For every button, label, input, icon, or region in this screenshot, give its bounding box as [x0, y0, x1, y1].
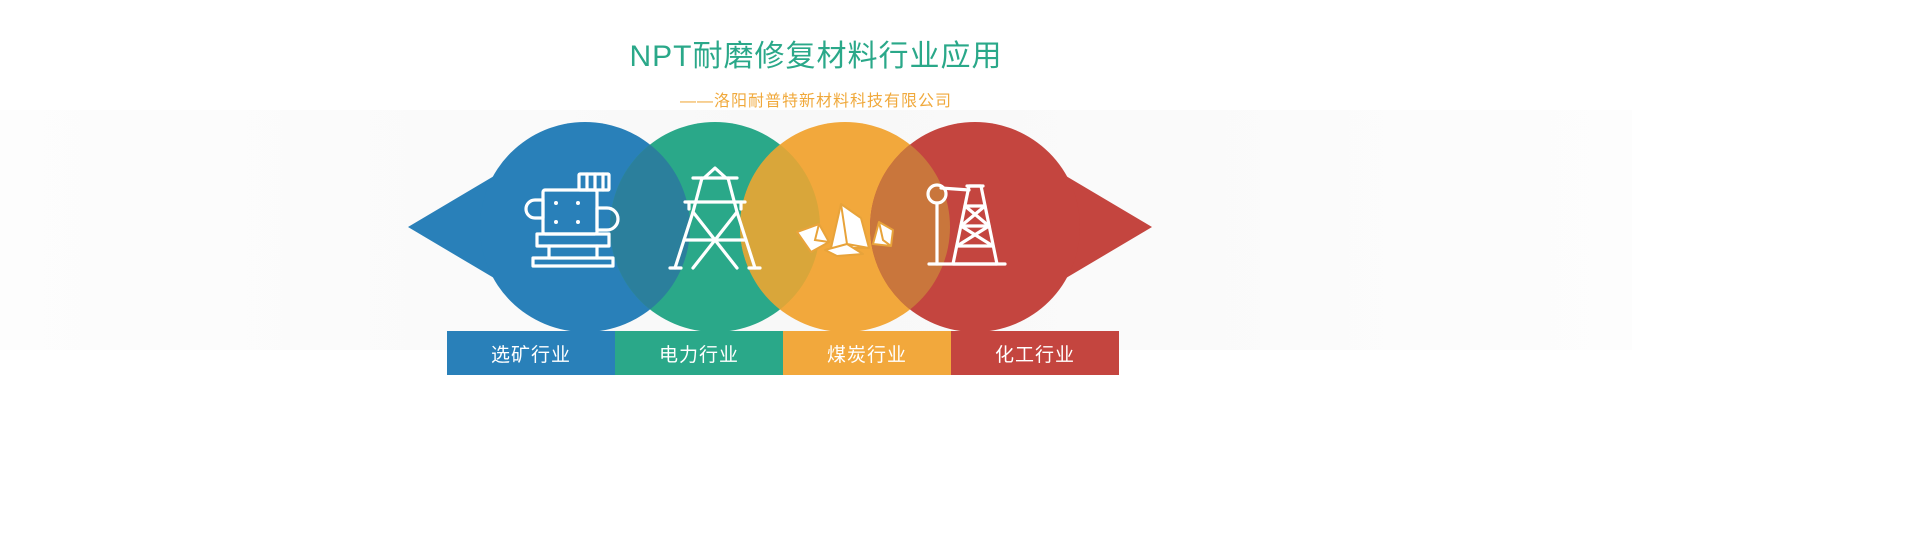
label-segment-coal[interactable]: 煤炭行业: [783, 331, 951, 375]
label-segment-ore-dressing[interactable]: 选矿行业: [447, 331, 615, 375]
label-text-ore-dressing: 选矿行业: [491, 340, 571, 367]
label-text-coal: 煤炭行业: [827, 340, 907, 367]
slide-canvas: NPT耐磨修复材料行业应用 ——洛阳耐普特新材料科技有限公司: [0, 0, 1920, 540]
label-text-chemical: 化工行业: [995, 340, 1075, 367]
industry-label-bar: 选矿行业 电力行业 煤炭行业 化工行业: [447, 331, 1119, 375]
header-block: NPT耐磨修复材料行业应用 ——洛阳耐普特新材料科技有限公司: [0, 0, 1632, 111]
label-segment-power[interactable]: 电力行业: [615, 331, 783, 375]
page-title: NPT耐磨修复材料行业应用: [0, 40, 1632, 73]
venn-svg: [400, 122, 1160, 332]
label-segment-chemical[interactable]: 化工行业: [951, 331, 1119, 375]
page-subtitle: ——洛阳耐普特新材料科技有限公司: [0, 87, 1632, 111]
industry-venn-diagram: [400, 122, 1160, 332]
label-text-power: 电力行业: [659, 340, 739, 367]
